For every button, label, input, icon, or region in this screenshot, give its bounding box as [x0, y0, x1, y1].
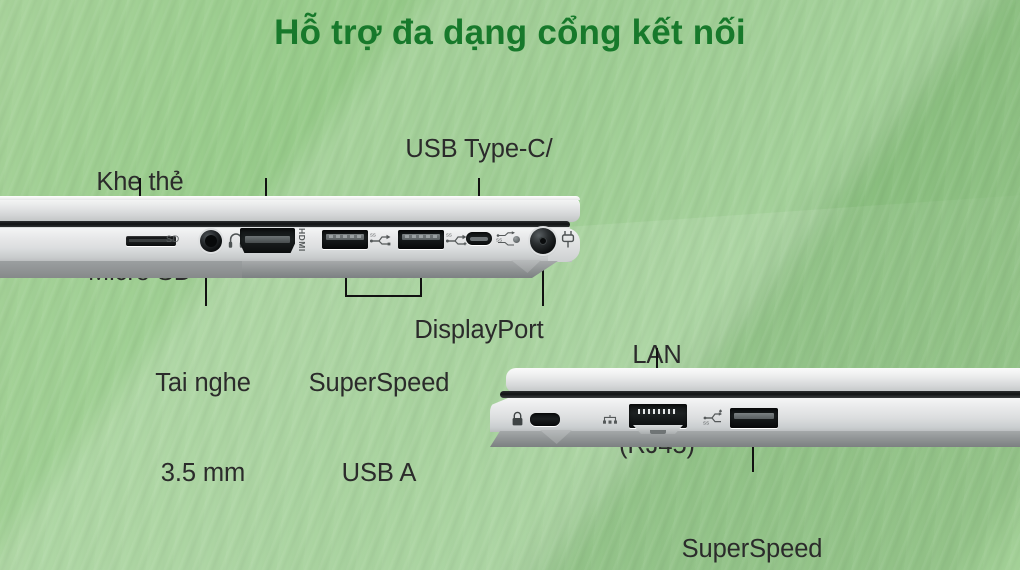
callout-headphone-line2: 3.5 mm	[155, 458, 251, 488]
laptop-bottom-underside	[490, 431, 1020, 447]
callout-superspeed-usb-a-top-line1: SuperSpeed	[309, 368, 450, 398]
laptop-bottom-seam	[500, 391, 1020, 398]
rj45-flap-notch	[650, 430, 666, 434]
power-barrel-jack	[530, 228, 556, 254]
callout-superspeed-usb-a-top-line2: USB A	[309, 458, 450, 488]
usb-a-port-2-pins	[405, 235, 437, 238]
headphone-jack-port	[200, 230, 222, 252]
usb-a-port-3-tongue	[734, 413, 774, 419]
usb-type-c-port	[466, 232, 492, 245]
hdmi-port-tongue	[245, 236, 290, 243]
usb-superspeed-icon-2: SS	[446, 233, 468, 247]
svg-text:SS: SS	[703, 420, 709, 425]
svg-text:SS: SS	[446, 233, 452, 237]
laptop-bottom-lid	[506, 368, 1020, 392]
kensington-security-slot	[530, 413, 560, 426]
rj45-port-pins	[638, 409, 676, 414]
headphone-jack-hole	[205, 235, 217, 247]
callout-superspeed-usb-a-bottom-line1: SuperSpeed	[682, 534, 823, 564]
sd-label-text: SD	[166, 234, 180, 244]
usb-type-c-tongue	[470, 237, 488, 241]
product-feature-image: Hỗ trợ đa dạng cổng kết nối Khe thẻ Micr…	[0, 0, 1020, 570]
power-jack-center-pin	[539, 237, 547, 245]
usb-superspeed-icon-3: SS	[703, 408, 725, 422]
lan-icon	[602, 412, 620, 423]
security-lock-icon	[511, 411, 524, 427]
usb-a-port-1	[322, 230, 368, 249]
laptop-top-underside-left	[0, 261, 242, 278]
callout-headphone: Tai nghe 3.5 mm	[155, 308, 251, 549]
rj45-port-shell	[629, 404, 687, 428]
callout-superspeed-usb-a-bottom: SuperSpeed USB A	[682, 474, 823, 570]
callout-headphone-line1: Tai nghe	[155, 368, 251, 398]
power-plug-icon	[560, 230, 576, 249]
page-title: Hỗ trợ đa dạng cổng kết nối	[0, 14, 1020, 53]
callout-usb-c-line1: USB Type-C/	[390, 134, 567, 164]
hdmi-label-text: HDMI	[297, 228, 307, 252]
rj45-lan-port	[629, 404, 687, 434]
hdmi-port	[240, 228, 295, 253]
svg-text:SS: SS	[370, 233, 376, 237]
usb-superspeed-icon-1: SS	[370, 233, 392, 247]
callout-superspeed-usb-a-top: SuperSpeed USB A	[309, 308, 450, 549]
power-led-indicator	[513, 236, 520, 243]
laptop-top-lid-edge	[0, 196, 580, 200]
usb-a-port-1-pins	[329, 235, 361, 238]
svg-text:SS: SS	[496, 238, 502, 243]
leader-bracket-usb-a	[345, 295, 422, 297]
usb-a-port-2	[398, 230, 444, 249]
usb-a-port-3	[730, 408, 778, 428]
